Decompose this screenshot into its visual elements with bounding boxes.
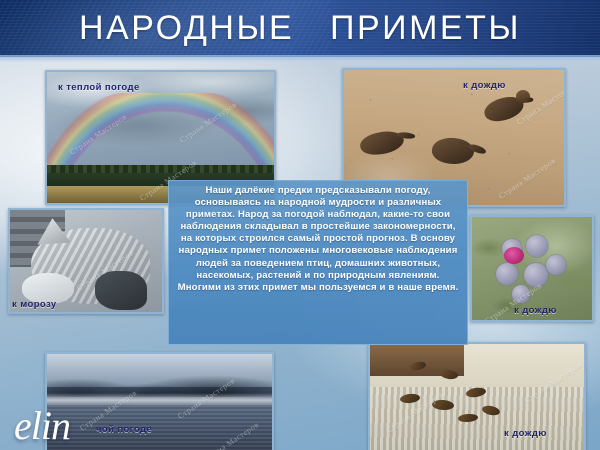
caption-bees: к дождю: [504, 428, 547, 439]
caption-rainbow: к теплой погоде: [58, 82, 140, 93]
presentation-slide: НАРОДНЫЕ ПРИМЕТЫ Страна Мастеров Страна …: [0, 0, 600, 450]
burdock-burr: [546, 255, 566, 275]
header-bottom-edge: [0, 55, 600, 62]
description-textbox: Наши далёкие предки предсказывали погоду…: [168, 180, 468, 345]
lake-water: [47, 405, 272, 450]
burdock-burr: [496, 263, 518, 285]
caption-sparrows: к дождю: [463, 80, 506, 91]
slide-title: НАРОДНЫЕ ПРИМЕТЫ: [0, 0, 600, 57]
caption-flower: к дождю: [514, 305, 557, 316]
burdock-flower-head: [504, 247, 524, 264]
burdock-burr: [524, 263, 548, 287]
photo-misty-lake[interactable]: Страна Мастеров Страна Мастеров Страна М…: [45, 352, 274, 450]
photo-bees[interactable]: Страна Мастеров Страна Мастеров: [368, 342, 586, 450]
cat-tail: [95, 271, 147, 310]
caption-lake: чой погоде: [96, 424, 152, 435]
burdock-burr: [526, 235, 548, 257]
description-paragraph: Наши далёкие предки предсказывали погоду…: [176, 185, 460, 294]
caption-cat: к морозу: [12, 299, 57, 310]
burdock-burr: [512, 285, 530, 303]
sparrow-head: [516, 90, 530, 103]
brand-watermark: elin: [14, 406, 70, 446]
